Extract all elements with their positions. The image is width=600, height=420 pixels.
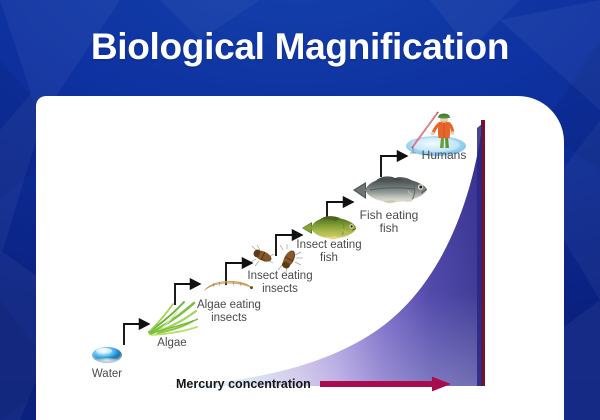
level-label-fish-eating-fish: Fish eating fish <box>352 209 426 235</box>
grey-bass-icon <box>352 174 428 208</box>
water-droplet-icon <box>92 344 122 365</box>
biomagnification-figure: Water Algae <box>36 96 564 420</box>
mercury-concentration-axis: Mercury concentration <box>176 376 452 392</box>
algae-strands-icon <box>146 301 198 337</box>
green-sunfish-icon <box>300 214 358 242</box>
mercury-arrow-icon <box>320 376 452 392</box>
level-label-algae: Algae <box>138 337 206 350</box>
page-title: Biological Magnification <box>0 26 600 68</box>
level-label-water: Water <box>74 368 140 381</box>
slide-root: Biological Magnification <box>0 0 600 420</box>
level-label-humans: Humans <box>414 149 474 162</box>
level-label-algae-eating-insects: Algae eating insects <box>192 299 266 324</box>
level-label-insect-eating-insects: Insect eating insects <box>244 270 316 295</box>
diagram-card: Water Algae <box>36 96 564 420</box>
level-label-insect-eating-fish: Insect eating fish <box>294 239 364 264</box>
mercury-axis-label: Mercury concentration <box>176 377 311 391</box>
